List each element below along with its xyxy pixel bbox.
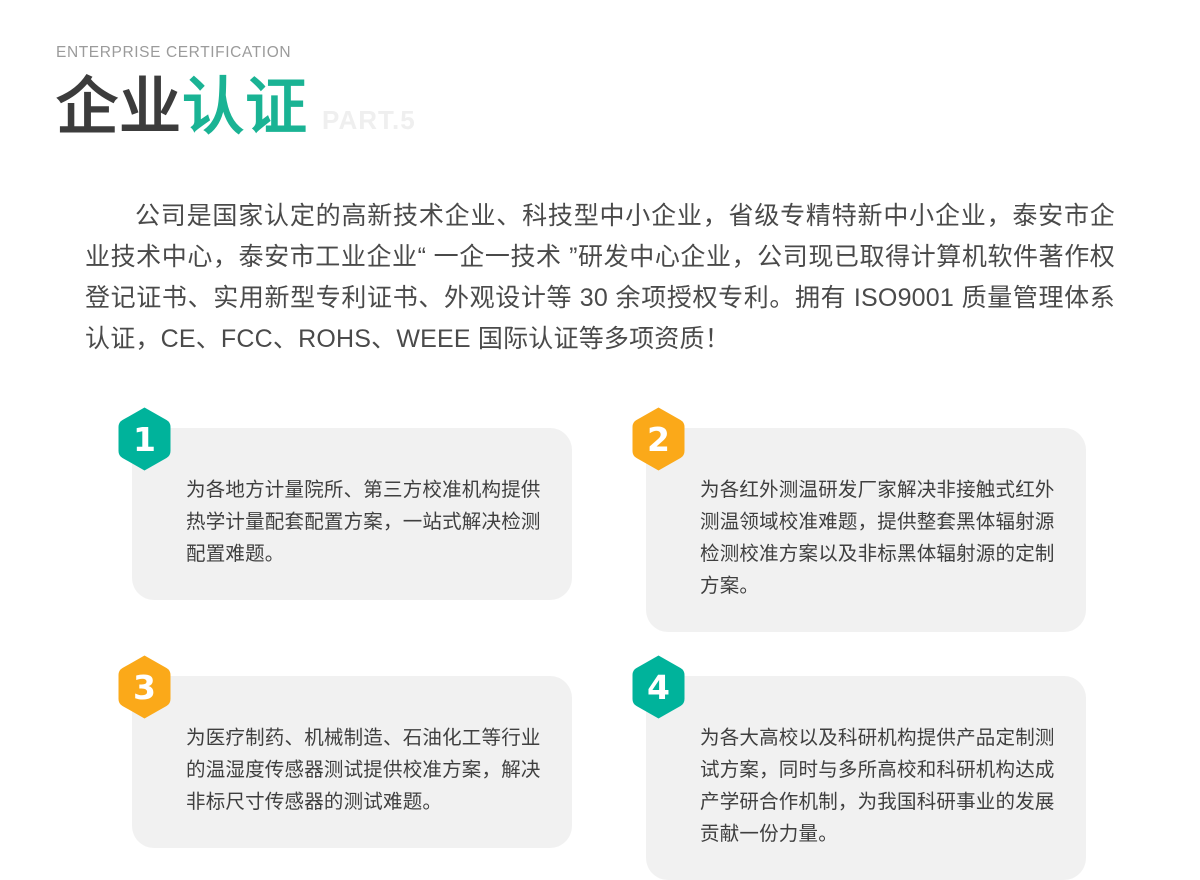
title-text: 企业认证 <box>56 77 308 139</box>
card-panel: 为各红外测温研发厂家解决非接触式红外测温领域校准难题，提供整套黑体辐射源检测校准… <box>646 428 1086 632</box>
card-panel: 为各地方计量院所、第三方校准机构提供热学计量配套配置方案，一站式解决检测配置难题… <box>132 428 572 600</box>
intro-paragraph: 公司是国家认定的高新技术企业、科技型中小企业，省级专精特新中小企业，泰安市企业技… <box>85 196 1115 360</box>
page-header: ENTERPRISE CERTIFICATION 企业认证 PART.5 <box>56 44 756 139</box>
badge-3: 3 <box>116 654 173 720</box>
card-panel: 为各大高校以及科研机构提供产品定制测试方案，同时与多所高校和科研机构达成产学研合… <box>646 676 1086 880</box>
badge-number: 2 <box>647 423 670 456</box>
card-3: 3 为医疗制药、机械制造、石油化工等行业的温湿度传感器测试提供校准方案，解决非标… <box>116 654 572 880</box>
badge-1: 1 <box>116 406 173 472</box>
title-accent-part: 认证 <box>182 73 308 142</box>
badge-4: 4 <box>630 654 687 720</box>
title-dark-part: 企业 <box>56 73 182 142</box>
part-label: PART.5 <box>322 107 416 139</box>
card-description: 为医疗制药、机械制造、石油化工等行业的温湿度传感器测试提供校准方案，解决非标尺寸… <box>186 722 544 818</box>
header-eyebrow: ENTERPRISE CERTIFICATION <box>56 44 756 63</box>
badge-number: 4 <box>647 671 670 704</box>
card-description: 为各红外测温研发厂家解决非接触式红外测温领域校准难题，提供整套黑体辐射源检测校准… <box>700 474 1058 602</box>
card-description: 为各大高校以及科研机构提供产品定制测试方案，同时与多所高校和科研机构达成产学研合… <box>700 722 1058 850</box>
card-description: 为各地方计量院所、第三方校准机构提供热学计量配套配置方案，一站式解决检测配置难题… <box>186 474 544 570</box>
badge-number: 3 <box>133 671 156 704</box>
badge-2: 2 <box>630 406 687 472</box>
card-2: 2 为各红外测温研发厂家解决非接触式红外测温领域校准难题，提供整套黑体辐射源检测… <box>630 406 1086 632</box>
card-panel: 为医疗制药、机械制造、石油化工等行业的温湿度传感器测试提供校准方案，解决非标尺寸… <box>132 676 572 848</box>
badge-number: 1 <box>133 423 156 456</box>
card-1: 1 为各地方计量院所、第三方校准机构提供热学计量配套配置方案，一站式解决检测配置… <box>116 406 572 632</box>
page-title: 企业认证 PART.5 <box>56 77 756 139</box>
certification-cards-grid: 1 为各地方计量院所、第三方校准机构提供热学计量配套配置方案，一站式解决检测配置… <box>116 406 1100 880</box>
card-4: 4 为各大高校以及科研机构提供产品定制测试方案，同时与多所高校和科研机构达成产学… <box>630 654 1086 880</box>
